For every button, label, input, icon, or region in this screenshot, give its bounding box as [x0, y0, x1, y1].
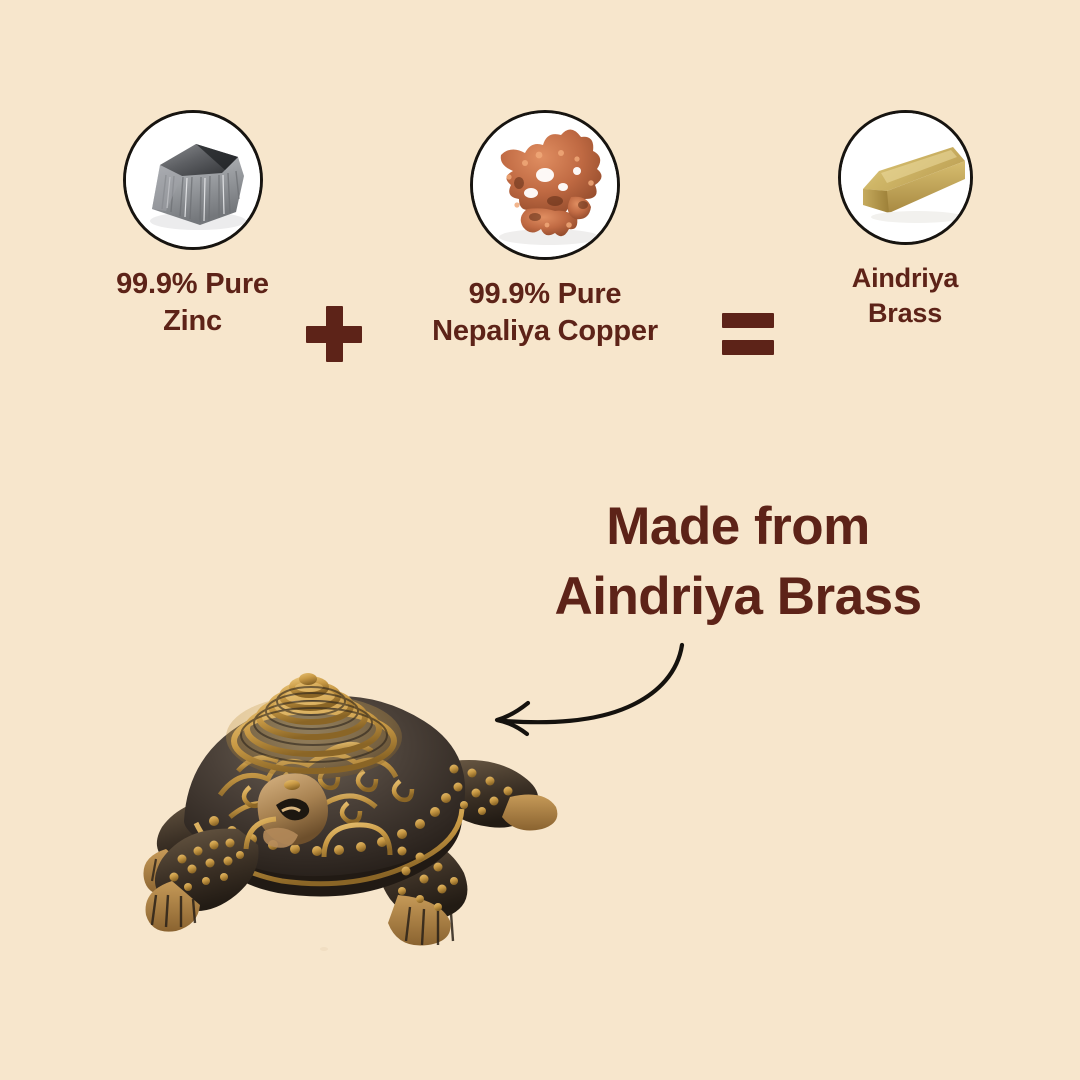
plus-operator [306, 306, 362, 362]
copper-nugget-icon [470, 110, 620, 260]
ingredient-brass: Aindriya Brass [780, 110, 1030, 330]
zinc-ore-icon [123, 110, 263, 250]
page-title: Made from Aindriya Brass [478, 492, 998, 632]
brass-bar-icon [838, 110, 973, 245]
copper-label: 99.9% Pure Nepaliya Copper [400, 276, 690, 350]
ingredient-zinc: 99.9% Pure Zinc [70, 110, 315, 340]
brass-tortoise-figurine [110, 645, 600, 985]
ingredient-copper: 99.9% Pure Nepaliya Copper [400, 110, 690, 350]
brass-label: Aindriya Brass [780, 261, 1030, 330]
alloy-formula-row: 99.9% Pure Zinc [0, 110, 1080, 400]
zinc-label: 99.9% Pure Zinc [70, 266, 315, 340]
equals-operator [722, 313, 774, 355]
infographic-canvas: 99.9% Pure Zinc [0, 0, 1080, 1080]
